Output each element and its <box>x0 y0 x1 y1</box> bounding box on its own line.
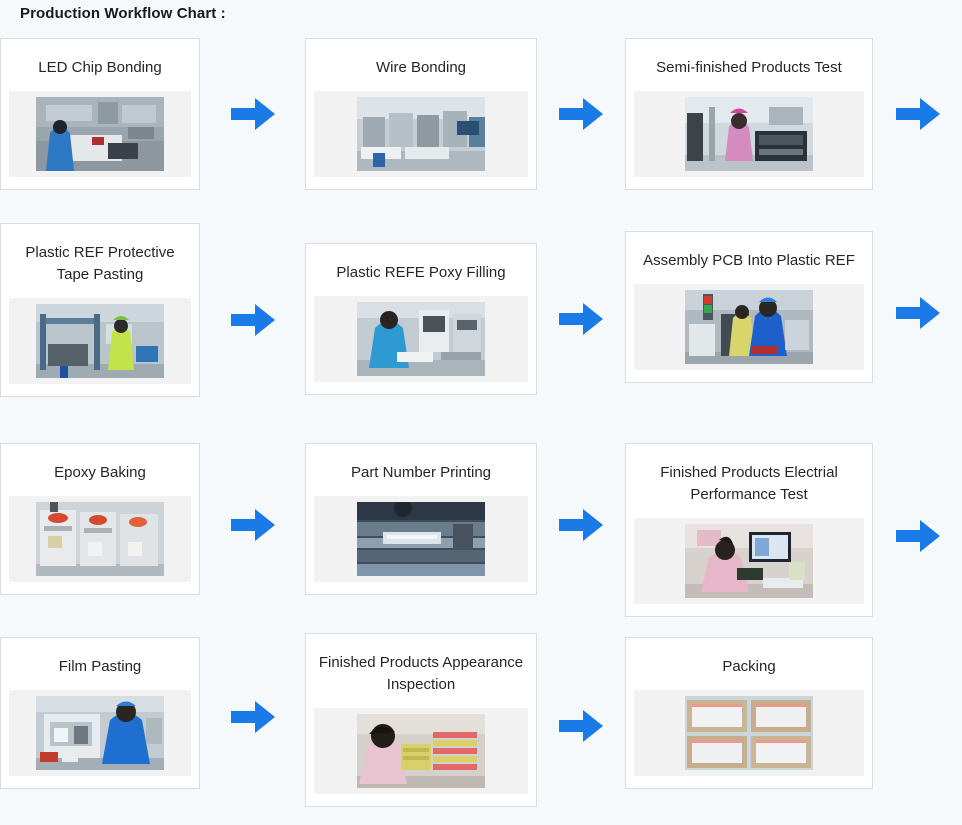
photo-band <box>314 296 528 382</box>
arrow-slot <box>873 517 962 555</box>
photo-assembly-pcb-into-plastic-ref <box>685 290 813 364</box>
arrow-slot <box>537 95 625 133</box>
workflow-step-card[interactable]: Part Number Printing <box>305 443 537 595</box>
workflow-cell: Film Pasting <box>0 633 305 789</box>
workflow-step-label: Wire Bonding <box>314 49 528 83</box>
arrow-slot <box>200 506 305 544</box>
workflow-cell: Finished Products Appearance Inspection <box>305 633 625 807</box>
photo-film-pasting <box>36 696 164 770</box>
workflow-cell: Plastic REF Protective Tape Pasting <box>0 223 305 397</box>
photo-plastic-ref-protective-tape-pasting <box>36 304 164 378</box>
workflow-step-card[interactable]: LED Chip Bonding <box>0 38 200 190</box>
photo-epoxy-baking <box>36 502 164 576</box>
photo-band <box>9 496 191 582</box>
photo-band <box>634 91 864 177</box>
workflow-row: Epoxy Baking <box>0 443 962 633</box>
workflow-step-card[interactable]: Wire Bonding <box>305 38 537 190</box>
arrow-right-icon <box>229 506 277 544</box>
arrow-right-icon <box>557 506 605 544</box>
workflow-cell: LED Chip Bonding <box>0 38 305 190</box>
arrow-slot <box>200 698 305 736</box>
photo-band <box>9 91 191 177</box>
workflow-step-label: Packing <box>634 648 864 682</box>
workflow-step-card[interactable]: Epoxy Baking <box>0 443 200 595</box>
workflow-cell: Epoxy Baking <box>0 443 305 595</box>
workflow-cell: Part Number Printing <box>305 443 625 595</box>
workflow-step-label: Assembly PCB Into Plastic REF <box>634 242 864 276</box>
workflow-step-card[interactable]: Assembly PCB Into Plastic REF <box>625 231 873 383</box>
workflow-step-card[interactable]: Film Pasting <box>0 637 200 789</box>
arrow-slot <box>873 294 962 332</box>
workflow-cell: Assembly PCB Into Plastic REF <box>625 223 962 383</box>
arrow-slot <box>537 506 625 544</box>
workflow-step-label: Semi-finished Products Test <box>634 49 864 83</box>
arrow-right-icon <box>229 698 277 736</box>
workflow-page: Production Workflow Chart : LED Chip Bon… <box>0 0 962 824</box>
workflow-row: LED Chip Bonding <box>0 38 962 223</box>
photo-band <box>634 690 864 776</box>
photo-band <box>634 284 864 370</box>
arrow-right-icon <box>557 707 605 745</box>
workflow-step-card[interactable]: Plastic REF Protective Tape Pasting <box>0 223 200 397</box>
arrow-right-icon <box>229 95 277 133</box>
photo-plastic-refe-poxy-filling <box>357 302 485 376</box>
workflow-cell: Semi-finished Products Test <box>625 38 962 190</box>
workflow-step-label: LED Chip Bonding <box>9 49 191 83</box>
arrow-right-icon <box>229 301 277 339</box>
workflow-cell: Packing <box>625 633 962 789</box>
arrow-slot <box>200 95 305 133</box>
workflow-step-card[interactable]: Semi-finished Products Test <box>625 38 873 190</box>
workflow-step-label: Finished Products Electrial Performance … <box>634 454 864 510</box>
photo-wire-bonding <box>357 97 485 171</box>
workflow-row: Plastic REF Protective Tape Pasting <box>0 223 962 443</box>
photo-led-chip-bonding <box>36 97 164 171</box>
page-title: Production Workflow Chart : <box>20 5 226 22</box>
workflow-step-label: Epoxy Baking <box>9 454 191 488</box>
workflow-cell: Wire Bonding <box>305 38 625 190</box>
photo-band <box>9 690 191 776</box>
arrow-right-icon <box>557 95 605 133</box>
arrow-right-icon <box>894 294 942 332</box>
workflow-step-label: Finished Products Appearance Inspection <box>314 644 528 700</box>
photo-band <box>314 708 528 794</box>
workflow-step-card[interactable]: Finished Products Appearance Inspection <box>305 633 537 807</box>
workflow-cell: Plastic REFE Poxy Filling <box>305 223 625 395</box>
arrow-slot <box>200 301 305 339</box>
arrow-slot <box>537 300 625 338</box>
arrow-right-icon <box>557 300 605 338</box>
workflow-step-card[interactable]: Plastic REFE Poxy Filling <box>305 243 537 395</box>
arrow-right-icon <box>894 95 942 133</box>
photo-band <box>9 298 191 384</box>
workflow-step-label: Part Number Printing <box>314 454 528 488</box>
workflow-step-card[interactable]: Finished Products Electrial Performance … <box>625 443 873 617</box>
arrow-slot <box>873 95 962 133</box>
workflow-cell: Finished Products Electrial Performance … <box>625 443 962 617</box>
photo-finished-products-appearance-inspection <box>357 714 485 788</box>
photo-band <box>634 518 864 604</box>
workflow-step-label: Plastic REF Protective Tape Pasting <box>9 234 191 290</box>
arrow-right-icon <box>894 517 942 555</box>
workflow-step-label: Film Pasting <box>9 648 191 682</box>
photo-finished-products-electrial-performance-test <box>685 524 813 598</box>
arrow-slot <box>537 707 625 745</box>
photo-part-number-printing <box>357 502 485 576</box>
photo-semi-finished-products-test <box>685 97 813 171</box>
workflow-step-label: Plastic REFE Poxy Filling <box>314 254 528 288</box>
photo-packing <box>685 696 813 770</box>
photo-band <box>314 496 528 582</box>
workflow-step-card[interactable]: Packing <box>625 637 873 789</box>
workflow-row: Film Pasting <box>0 633 962 825</box>
workflow-grid: LED Chip Bonding <box>0 38 962 825</box>
photo-band <box>314 91 528 177</box>
